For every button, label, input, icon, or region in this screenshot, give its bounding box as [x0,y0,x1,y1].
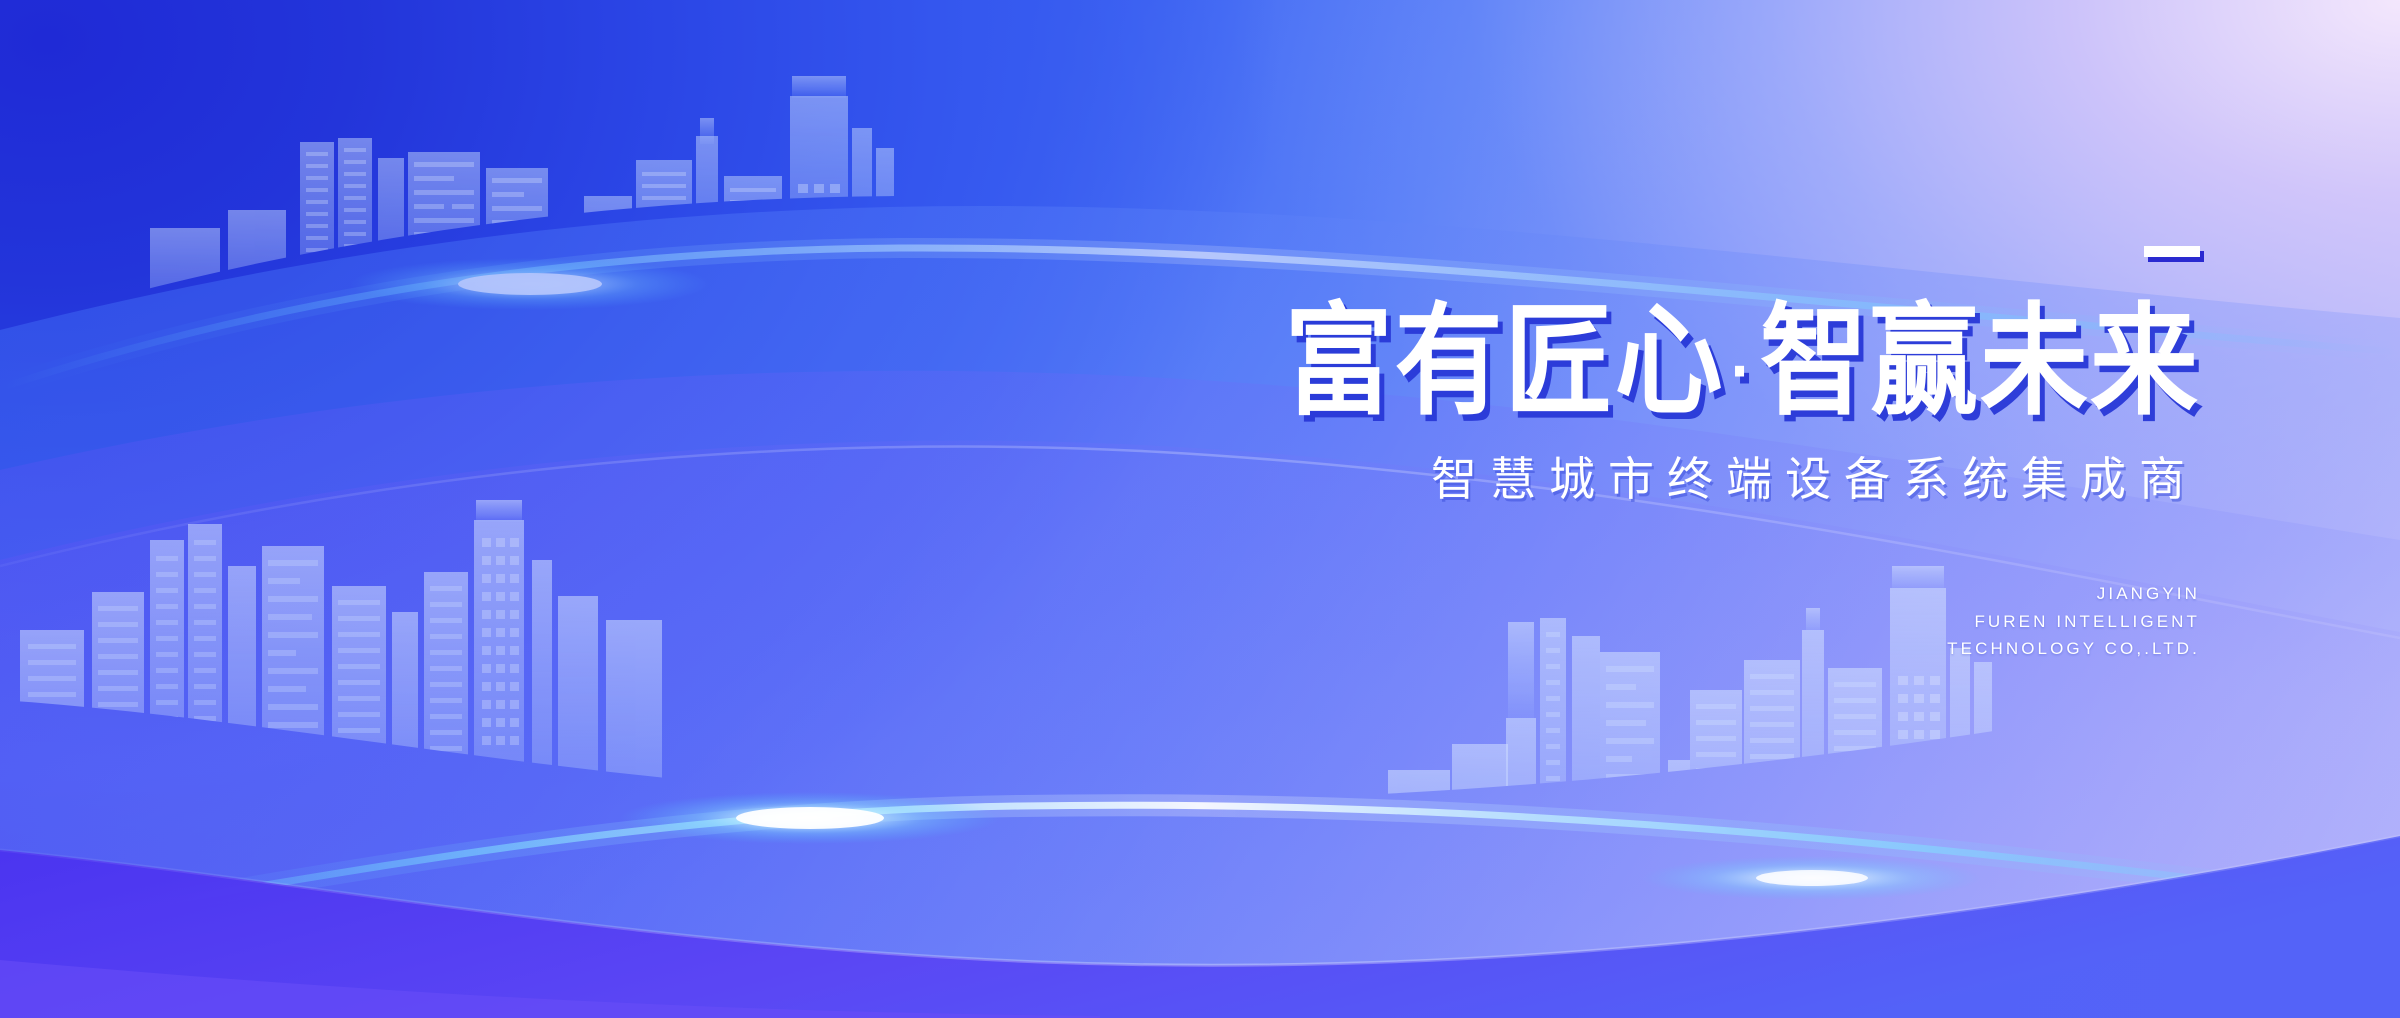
company-line-1: JIANGYIN [1020,580,2200,608]
horizontal-dash-icon [2144,246,2200,257]
headline-text-block: 富有匠心·智赢未来 智慧城市终端设备系统集成商 JIANGYIN FUREN I… [1020,246,2200,663]
headline-right: 智赢未来 [1760,293,2200,429]
headline-separator: · [1725,331,1760,412]
page-title: 富有匠心·智赢未来 [1020,301,2200,422]
subtitle: 智慧城市终端设备系统集成商 [1020,456,2200,502]
company-name-block: JIANGYIN FUREN INTELLIGENT TECHNOLOGY CO… [1020,580,2200,663]
promotional-banner: 富有匠心·智赢未来 智慧城市终端设备系统集成商 JIANGYIN FUREN I… [0,0,2400,1018]
company-line-3: TECHNOLOGY CO,.LTD. [1020,635,2200,663]
company-line-2: FUREN INTELLIGENT [1020,608,2200,636]
headline-left: 富有匠心 [1285,293,1725,429]
